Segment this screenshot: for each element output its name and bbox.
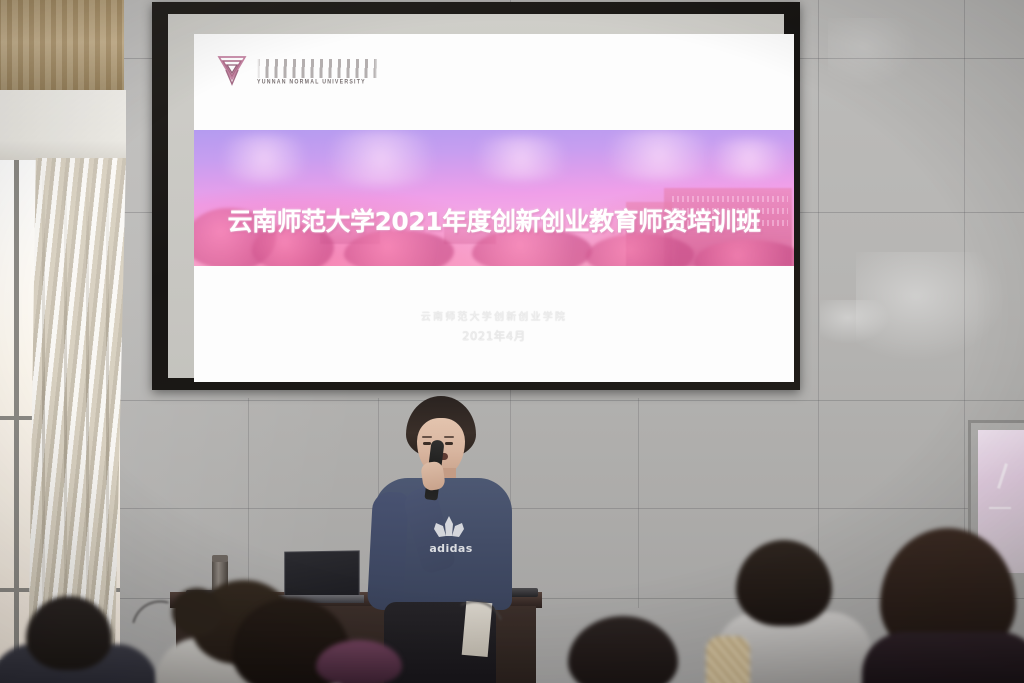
projection-screen-bezel: YUNNAN NORMAL UNIVERSITY <box>168 14 784 378</box>
presenter-eye <box>445 442 453 445</box>
slide-footer-date: 2021年4月 <box>194 328 794 346</box>
slide-banner-image: 云南师范大学2021年度创新创业教育师资培训班 <box>194 130 794 266</box>
presenter-eyebrow <box>422 436 432 438</box>
presenter-eyebrow <box>444 436 454 438</box>
audience-member <box>0 596 170 683</box>
lecture-hall-scene: YUNNAN NORMAL UNIVERSITY <box>0 0 1024 683</box>
window-area <box>0 0 152 660</box>
yunnan-normal-university-triangle-emblem-icon <box>216 52 248 86</box>
projection-screen-frame: YUNNAN NORMAL UNIVERSITY <box>152 2 800 390</box>
wall-seam <box>964 0 965 600</box>
slide-footer-organization: 云南师范大学创新创业学院 <box>194 310 794 326</box>
audience-member <box>716 540 876 683</box>
presenter-eye <box>423 442 431 445</box>
presentation-slide: YUNNAN NORMAL UNIVERSITY <box>194 34 794 382</box>
adidas-trefoil-icon <box>430 514 468 540</box>
university-logo: YUNNAN NORMAL UNIVERSITY <box>216 52 379 86</box>
thermos-cap <box>212 555 228 562</box>
wall-seam <box>638 398 639 608</box>
university-chinese-wordmark <box>257 59 379 78</box>
audience-member <box>316 640 406 683</box>
adidas-wordmark: adidas <box>424 542 478 555</box>
wall-seam <box>818 0 819 600</box>
university-english-wordmark: YUNNAN NORMAL UNIVERSITY <box>257 79 366 87</box>
audience-member <box>540 616 720 683</box>
wall-seam <box>248 398 249 598</box>
curtain-valance <box>0 0 124 90</box>
presenter-hand <box>420 461 446 492</box>
window-mullion <box>14 160 19 660</box>
slide-footer: 云南师范大学创新创业学院 2021年4月 <box>194 310 794 345</box>
audience-member <box>856 528 1024 683</box>
valance-board <box>0 90 126 164</box>
presenter-left-arm <box>367 491 409 611</box>
university-wordmark: YUNNAN NORMAL UNIVERSITY <box>257 59 379 86</box>
slide-title: 云南师范大学2021年度创新创业教育师资培训班 <box>194 202 794 238</box>
